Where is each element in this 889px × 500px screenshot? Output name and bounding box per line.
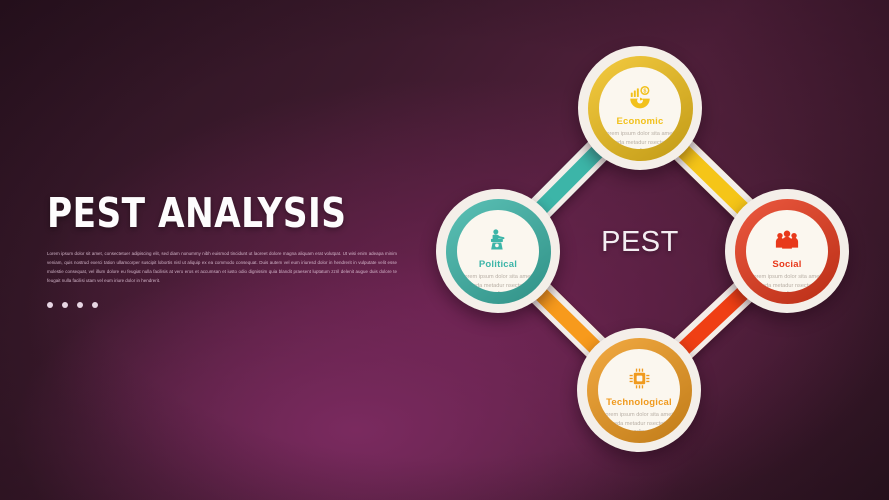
node-content: $ Economic Lorem ipsum dolor sita ameti,… <box>599 67 681 149</box>
slide-canvas: PEST ANALYSIS Lorem ipsum dolor sit amet… <box>0 0 889 500</box>
pagination-dots[interactable] <box>47 302 407 308</box>
pest-diagram: PEST <box>430 28 880 473</box>
pagination-dot[interactable] <box>92 302 98 308</box>
microchip-icon <box>627 366 652 391</box>
node-title: Technological <box>606 397 672 408</box>
node-content: Social Lorem ipsum dolor sita ameti, con… <box>746 210 828 292</box>
diagram-center-label: PEST <box>530 226 750 259</box>
pagination-dot[interactable] <box>47 302 53 308</box>
svg-text:$: $ <box>643 89 646 95</box>
pagination-dot[interactable] <box>77 302 83 308</box>
body-paragraph: Lorem ipsum dolor sit amet, consectetuer… <box>47 249 397 286</box>
node-content: Political Lorem ipsum dolor sita ameti, … <box>457 210 539 292</box>
page-title: PEST ANALYSIS <box>47 193 382 234</box>
pagination-dot[interactable] <box>62 302 68 308</box>
podium-speaker-icon <box>485 227 511 253</box>
bar-chart-coin-icon: $ <box>627 84 653 110</box>
node-political[interactable]: Political Lorem ipsum dolor sita ameti, … <box>436 189 560 313</box>
node-title: Social <box>772 259 801 270</box>
left-text-panel: PEST ANALYSIS Lorem ipsum dolor sit amet… <box>47 193 407 308</box>
node-economic[interactable]: $ Economic Lorem ipsum dolor sita ameti,… <box>578 46 702 170</box>
node-title: Political <box>479 259 517 270</box>
node-content: Technological Lorem ipsum dolor sita ame… <box>598 349 680 431</box>
node-social[interactable]: Social Lorem ipsum dolor sita ameti, con… <box>725 189 849 313</box>
people-group-icon <box>774 227 800 253</box>
node-title: Economic <box>617 116 664 127</box>
node-technological[interactable]: Technological Lorem ipsum dolor sita ame… <box>577 328 701 452</box>
